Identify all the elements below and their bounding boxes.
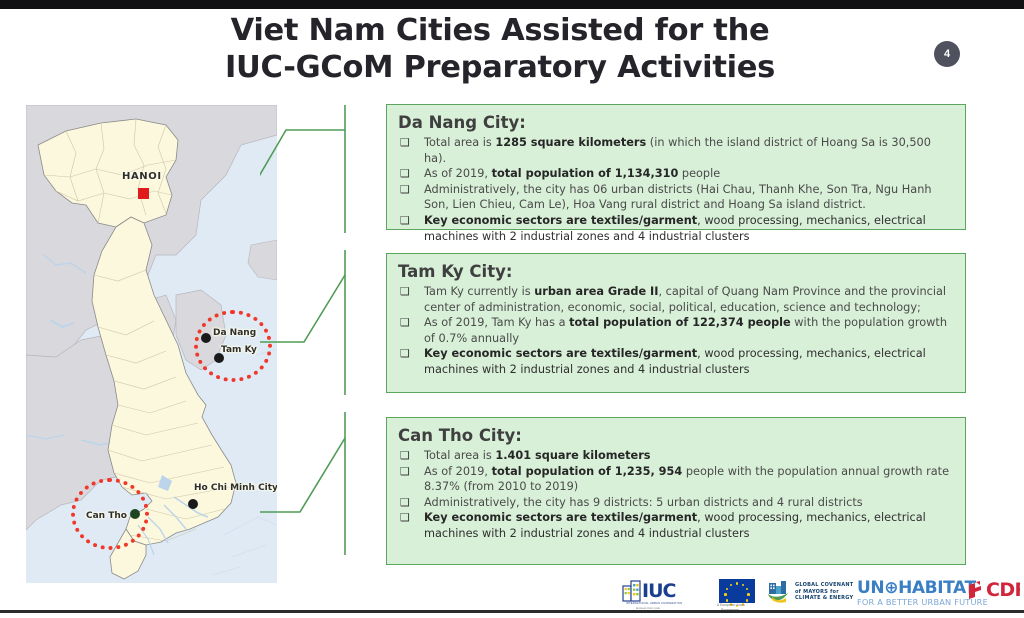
page-number-badge: 4	[934, 41, 960, 67]
footer-logo-strip: IUC INTERNATIONAL URBAN COOPERATION Euro…	[614, 577, 1014, 613]
gcom-line-1: GLOBAL COVENANT	[795, 582, 853, 588]
checkbox-bullet-icon: ❑	[398, 213, 424, 229]
checkbox-bullet-icon: ❑	[398, 510, 424, 526]
city-info-box-tam-ky: Tam Ky City: ❑Tam Ky currently is urban …	[386, 253, 966, 393]
checkbox-bullet-icon: ❑	[398, 166, 424, 182]
iuc-building-icon	[622, 579, 642, 603]
cdp-logo: CDP	[967, 581, 1024, 600]
bullet-text: Key economic sectors are textiles/garmen…	[424, 510, 953, 541]
iuc-subtitle: INTERNATIONAL URBAN COOPERATION	[626, 602, 682, 605]
da-nang-marker	[201, 333, 211, 343]
bullet-text: Key economic sectors are textiles/garmen…	[424, 346, 953, 377]
gcom-line-3: CLIMATE & ENERGY	[795, 595, 853, 601]
checkbox-bullet-icon: ❑	[398, 448, 424, 464]
connector-line-tam-ky	[260, 275, 345, 342]
top-black-bar	[0, 0, 1024, 9]
box-title: Can Tho City:	[398, 426, 953, 446]
cdp-wordmark: CDP	[986, 581, 1024, 600]
box-title: Da Nang City:	[398, 113, 953, 133]
city-info-box-da-nang: Da Nang City: ❑Total area is 1285 square…	[386, 104, 966, 230]
eu-flag-icon	[719, 579, 755, 603]
checkbox-bullet-icon: ❑	[398, 346, 424, 362]
bullet-item: ❑Administratively, the city has 06 urban…	[398, 182, 953, 213]
bullet-text: As of 2019, total population of 1,235, 9…	[424, 464, 953, 495]
gcom-wordmark: GLOBAL COVENANT of MAYORS for CLIMATE & …	[795, 582, 853, 601]
checkbox-bullet-icon: ❑	[398, 284, 424, 300]
european-union-logo	[719, 579, 755, 603]
bullet-text: Key economic sectors are textiles/garmen…	[424, 213, 953, 244]
bullet-item: ❑Key economic sectors are textiles/garme…	[398, 213, 953, 244]
bullet-item: ❑As of 2019, Tam Ky has a total populati…	[398, 315, 953, 346]
checkbox-bullet-icon: ❑	[398, 464, 424, 480]
iuc-logo: IUC INTERNATIONAL URBAN COOPERATION Euro…	[622, 579, 675, 603]
cdp-mark-icon	[967, 581, 986, 600]
callout-connectors	[260, 100, 390, 580]
tam-ky-marker	[214, 353, 224, 363]
can-tho-marker	[130, 509, 140, 519]
bullet-item: ❑Tam Ky currently is urban area Grade II…	[398, 284, 953, 315]
bullet-item: ❑Total area is 1285 square kilometers (i…	[398, 135, 953, 166]
bullet-item: ❑Administratively, the city has 9 distri…	[398, 495, 953, 511]
bullet-item: ❑Total area is 1.401 square kilometers	[398, 448, 953, 464]
global-covenant-of-mayors-logo: GLOBAL COVENANT of MAYORS for CLIMATE & …	[766, 580, 853, 604]
page-title: Viet Nam Cities Assisted for the IUC-GCo…	[150, 12, 850, 86]
bullet-list: ❑Total area is 1285 square kilometers (i…	[398, 135, 953, 244]
eu-subtitle: A European Union	[717, 603, 745, 607]
title-line-1: Viet Nam Cities Assisted for the	[150, 12, 850, 49]
vietnam-map: HANOI Da Nang Tam Ky Ho Chi Minh City Ca…	[26, 105, 277, 583]
map-label-can-tho: Can Tho	[86, 511, 127, 521]
map-label-tam-ky: Tam Ky	[221, 345, 257, 355]
checkbox-bullet-icon: ❑	[398, 495, 424, 511]
bullet-text: Total area is 1.401 square kilometers	[424, 448, 953, 464]
hanoi-marker	[138, 188, 149, 199]
bullet-item: ❑As of 2019, total population of 1,235, …	[398, 464, 953, 495]
bullet-item: ❑Key economic sectors are textiles/garme…	[398, 346, 953, 377]
ho-chi-minh-marker	[188, 499, 198, 509]
map-label-da-nang: Da Nang	[213, 328, 256, 338]
map-label-hanoi: HANOI	[122, 171, 162, 182]
checkbox-bullet-icon: ❑	[398, 315, 424, 331]
title-line-2: IUC-GCoM Preparatory Activities	[150, 49, 850, 86]
gcom-emblem-icon	[766, 580, 792, 604]
checkbox-bullet-icon: ❑	[398, 135, 424, 151]
bullet-text: Tam Ky currently is urban area Grade II,…	[424, 284, 953, 315]
bullet-list: ❑Total area is 1.401 square kilometers❑A…	[398, 448, 953, 542]
right-edge-mask	[1020, 9, 1024, 610]
bullet-text: Administratively, the city has 06 urban …	[424, 182, 953, 213]
bullet-item: ❑As of 2019, total population of 1,134,3…	[398, 166, 953, 182]
connector-line-can-tho	[260, 438, 345, 512]
bullet-list: ❑Tam Ky currently is urban area Grade II…	[398, 284, 953, 378]
bullet-text: Total area is 1285 square kilometers (in…	[424, 135, 953, 166]
bullet-text: As of 2019, Tam Ky has a total populatio…	[424, 315, 953, 346]
slide-root: Viet Nam Cities Assisted for the IUC-GCo…	[0, 0, 1024, 618]
iuc-wordmark: IUC	[642, 580, 675, 602]
city-info-box-can-tho: Can Tho City: ❑Total area is 1.401 squar…	[386, 417, 966, 565]
box-title: Tam Ky City:	[398, 262, 953, 282]
bullet-text: Administratively, the city has 9 distric…	[424, 495, 953, 511]
bullet-text: As of 2019, total population of 1,134,31…	[424, 166, 953, 182]
connector-line-da-nang	[260, 130, 345, 178]
checkbox-bullet-icon: ❑	[398, 182, 424, 198]
bottom-rule	[0, 610, 1024, 613]
bullet-item: ❑Key economic sectors are textiles/garme…	[398, 510, 953, 541]
